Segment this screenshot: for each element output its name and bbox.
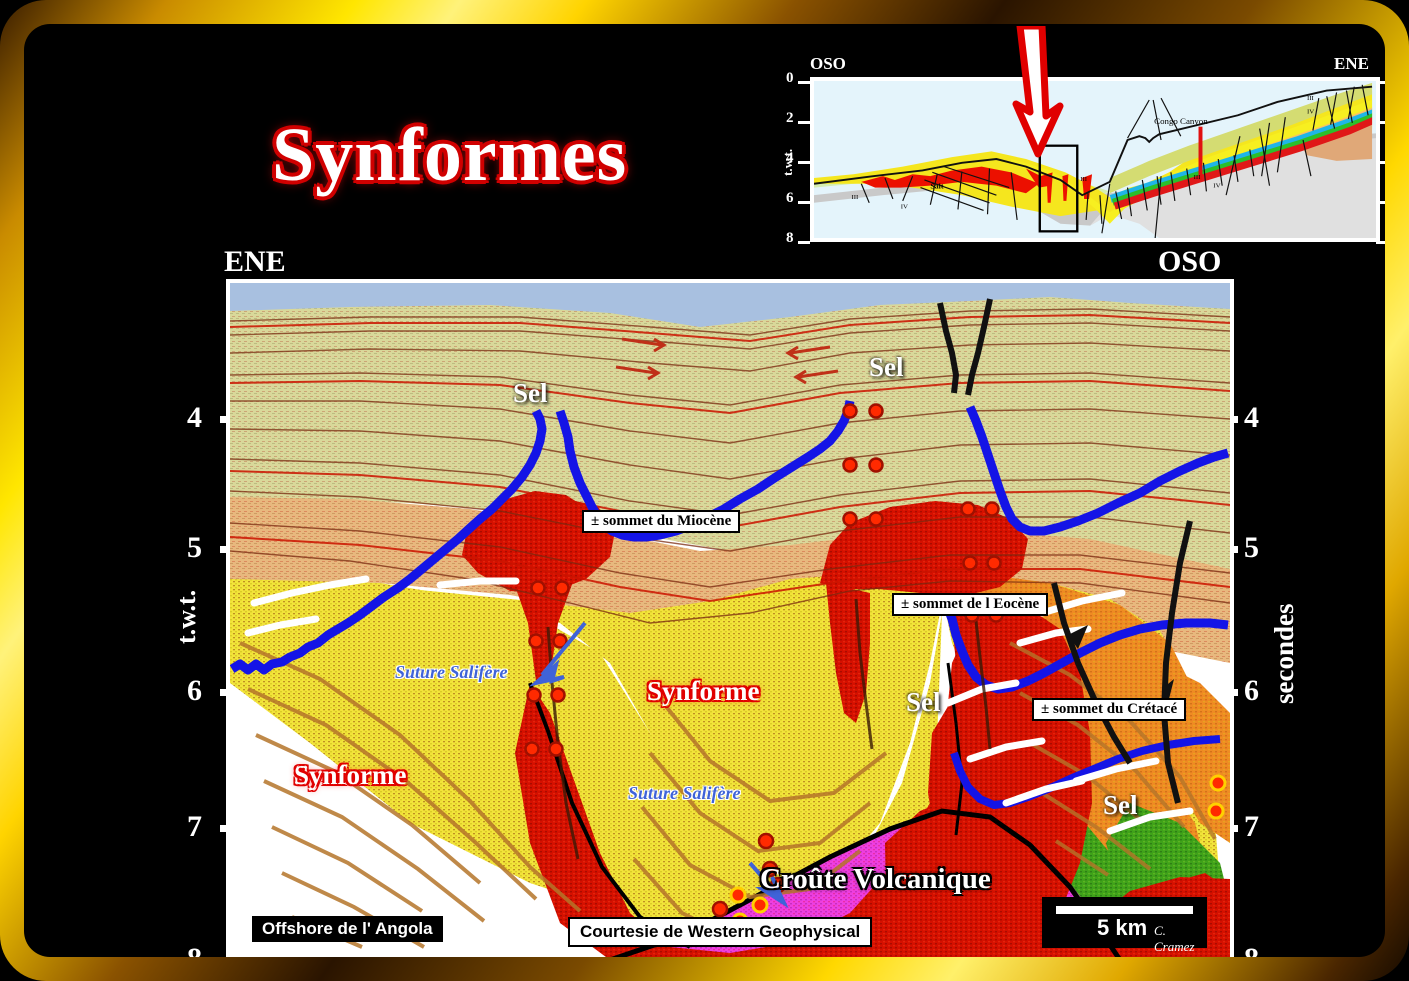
main-ytick-right-6: 6 [1244,674,1259,708]
salt-label-2: Sel [869,352,904,383]
main-direction-left: ENE [224,245,286,279]
salt-label-3: Sel [906,687,941,718]
main-ytick-left-8: 8 [187,942,202,957]
golden-frame: Synformes OSO ENE t.w.t. secondes 0 2 4 … [0,0,1409,981]
svg-text:Congo Canyon: Congo Canyon [1154,116,1208,126]
courtesy-label: Courtesie de Western Geophysical [568,917,872,947]
inset-tick-mark [798,121,810,124]
seismic-section-graphic [230,283,1230,957]
main-direction-right: OSO [1158,245,1221,279]
main-axis-label-left: t.w.t. [172,590,202,644]
inset-tick-mark [798,201,810,204]
svg-text:IV: IV [901,204,908,211]
main-ytick-right-8: 8 [1244,942,1259,957]
inset-tick-mark [798,241,810,244]
svg-text:III: III [851,194,859,201]
location-label: Offshore de l' Angola [252,916,443,942]
scale-bar-line [1056,906,1193,914]
main-ytick-left-4: 4 [187,401,202,435]
scale-bar: 5 km C. Cramez [1042,897,1207,948]
inset-direction-right: ENE [1334,54,1369,74]
horizon-label-eocene: ± sommet de l Eocène [892,593,1048,616]
author-credit: C. Cramez [1154,923,1207,955]
inset-section-graphic: Congo Canyon Salt III IV III III IV III … [810,77,1380,242]
inset-ytick-left-2: 2 [786,110,794,127]
svg-text:Salt: Salt [930,182,944,191]
suture-label-1: Suture Salifère [395,662,508,683]
volcanic-crust-label: Croûte Volcanique [760,863,991,896]
svg-text:IV: IV [1307,108,1314,115]
main-ytick-left-7: 7 [187,810,202,844]
svg-text:III: III [1080,176,1088,183]
synform-label-1: Synforme [647,676,759,707]
main-ytick-left-6: 6 [187,674,202,708]
inset-direction-left: OSO [810,54,846,74]
main-ytick-right-4: 4 [1244,401,1259,435]
svg-text:III: III [1307,95,1315,102]
svg-text:IV: IV [1213,183,1220,190]
inset-ytick-left-6: 6 [786,190,794,207]
inset-tick-mark [798,161,810,164]
svg-text:III: III [1194,174,1202,181]
main-ytick-right-5: 5 [1244,531,1259,565]
down-arrow-icon [1012,26,1076,166]
main-seismic-panel[interactable]: Sel Sel Sel Sel Synforme Synforme Croûte… [226,279,1234,957]
main-axis-label-right: secondes [1269,604,1300,705]
inset-ytick-left-4: 4 [786,150,794,167]
inset-ytick-left-8: 8 [786,230,794,247]
salt-label-4: Sel [1103,790,1138,821]
horizon-label-miocene: ± sommet du Miocène [582,510,740,533]
scale-bar-value: 5 km [1097,915,1147,941]
inset-tick-mark [798,81,810,84]
synform-label-2: Synforme [294,760,406,791]
horizon-label-cretaceous: ± sommet du Crétacé [1032,698,1186,721]
main-ytick-left-5: 5 [187,531,202,565]
page-title: Synformes [272,112,627,199]
salt-label-1: Sel [513,378,548,409]
inset-ytick-left-0: 0 [786,70,794,87]
main-ytick-right-7: 7 [1244,810,1259,844]
regional-inset-map[interactable]: OSO ENE t.w.t. secondes 0 2 4 6 8 0 2 4 … [782,48,1385,268]
slide-canvas: Synformes OSO ENE t.w.t. secondes 0 2 4 … [24,24,1385,957]
suture-label-2: Suture Salifère [628,783,741,804]
